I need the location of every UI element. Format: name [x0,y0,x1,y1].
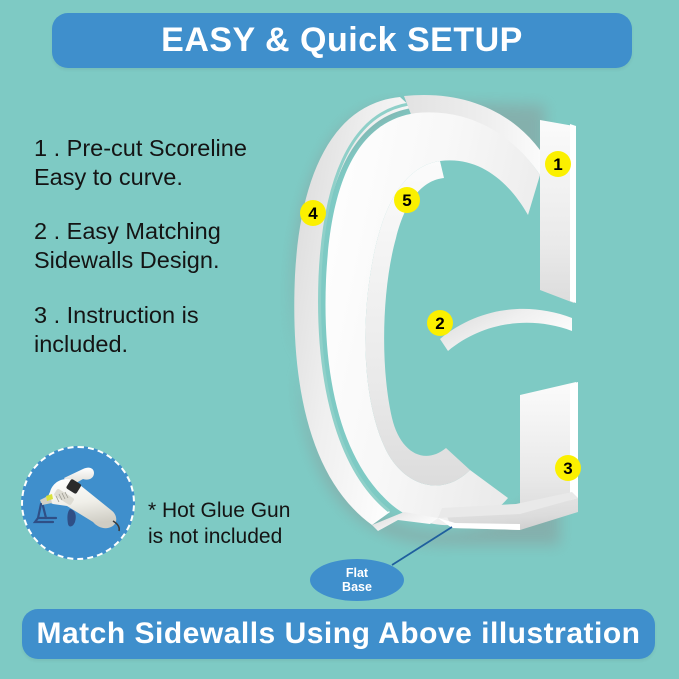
feature-2-line-2: Sidewalls Design. [34,246,324,275]
flat-base-line-1: Flat [346,566,368,580]
page-title: EASY & Quick SETUP [161,21,523,60]
footer-banner: Match Sidewalls Using Above illustration [22,609,655,659]
feature-list: 1 . Pre-cut Scoreline Easy to curve. 2 .… [34,134,324,384]
flat-base-callout: Flat Base [310,559,404,601]
infographic-poster: 1 2 3 4 5 EASY & Quick SETUP 1 . Pre-cut… [0,0,679,679]
badge-5-label: 5 [402,192,411,209]
feature-item-2: 2 . Easy Matching Sidewalls Design. [34,217,324,275]
feature-1-line-2: Easy to curve. [34,163,324,192]
badge-5[interactable]: 5 [394,187,420,213]
feature-3-line-1: 3 . Instruction is [34,301,324,330]
feature-3-line-2: included. [34,330,324,359]
badge-1-label: 1 [553,156,562,173]
hot-glue-gun-icon [23,448,137,562]
glue-gun-note: * Hot Glue Gun is not included [148,498,348,551]
feature-1-line-1: 1 . Pre-cut Scoreline [34,134,324,163]
flat-base-line-2: Base [342,580,372,594]
feature-2-line-1: 2 . Easy Matching [34,217,324,246]
badge-1[interactable]: 1 [545,151,571,177]
badge-3-label: 3 [563,460,572,477]
badge-2-label: 2 [435,315,444,332]
letter-c-upper-terminal-edge [570,124,576,303]
glue-gun-badge [21,446,135,560]
letter-c-lower-terminal-edge [570,382,578,502]
header-banner: EASY & Quick SETUP [52,13,632,68]
badge-2[interactable]: 2 [427,310,453,336]
letter-c-upper-terminal-wall [540,120,574,303]
feature-item-3: 3 . Instruction is included. [34,301,324,359]
letter-c-upper-terminal-return [440,309,572,351]
footer-title: Match Sidewalls Using Above illustration [37,617,641,651]
feature-item-1: 1 . Pre-cut Scoreline Easy to curve. [34,134,324,192]
glue-note-line-2: is not included [148,524,348,550]
glue-note-line-1: * Hot Glue Gun [148,498,348,524]
badge-3[interactable]: 3 [555,455,581,481]
